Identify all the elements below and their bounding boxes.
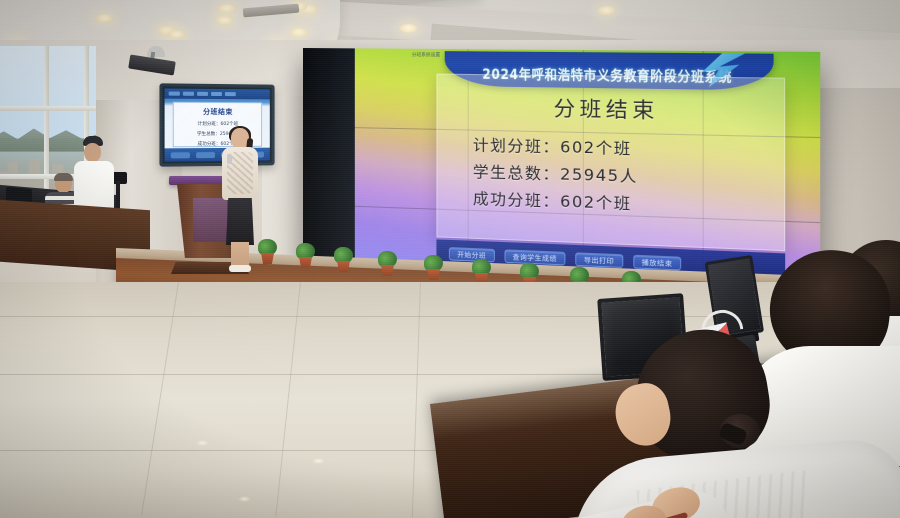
presenter bbox=[218, 128, 262, 272]
potted-plant bbox=[334, 246, 353, 272]
floor-light-reflection bbox=[196, 440, 209, 446]
wall-display-stat: 计划分班：602个班 bbox=[177, 120, 257, 127]
toolbar-item[interactable]: 分班系统设置 bbox=[412, 52, 440, 58]
plant-pot bbox=[261, 253, 274, 264]
menu-chip-icon bbox=[211, 92, 222, 96]
handheld-mic-icon bbox=[227, 154, 232, 164]
presenter-legs bbox=[231, 242, 249, 266]
downlight bbox=[598, 6, 615, 15]
result-stat-value: 25945人 bbox=[560, 165, 638, 186]
conference-room-photo: 分班结束 计划分班：602个班 学生总数：25945人 成功分班：602个班 bbox=[0, 0, 900, 518]
menu-chip-icon bbox=[197, 92, 208, 96]
result-stat-label: 成功分班： bbox=[473, 189, 560, 211]
downlight bbox=[96, 14, 113, 23]
floor-tile-line bbox=[412, 282, 421, 518]
wall-display-menubar bbox=[165, 88, 270, 99]
result-stat-row: 成功分班：602个班 bbox=[473, 187, 784, 219]
plant-pot bbox=[299, 257, 312, 268]
downlight bbox=[218, 4, 235, 13]
downlight bbox=[400, 24, 417, 33]
floor-light-reflection bbox=[312, 458, 325, 464]
floor-light-reflection bbox=[238, 496, 251, 502]
result-dialog: 分班结束 计划分班：602个班 学生总数：25945人 成功分班：602个班 bbox=[436, 74, 785, 252]
plant-pot bbox=[381, 265, 394, 276]
wall-display-button[interactable] bbox=[196, 152, 215, 158]
potted-plant bbox=[424, 254, 443, 280]
downlight bbox=[168, 30, 185, 39]
result-heading: 分班结束 bbox=[437, 90, 784, 126]
result-stat-value: 602个班 bbox=[560, 192, 632, 213]
presenter-shoes bbox=[229, 265, 251, 272]
wall-display-heading: 分班结束 bbox=[174, 107, 261, 117]
floor-tile-line bbox=[275, 282, 301, 517]
result-stat-label: 学生总数： bbox=[473, 163, 560, 184]
potted-plant bbox=[472, 258, 491, 284]
result-stat-row: 学生总数：25945人 bbox=[473, 161, 784, 192]
attendee-hair bbox=[54, 173, 73, 181]
plant-pot bbox=[337, 261, 350, 272]
result-stat-row: 计划分班：602个班 bbox=[473, 134, 784, 164]
audience-front bbox=[600, 330, 900, 518]
result-stat-value: 602个班 bbox=[560, 138, 632, 159]
result-stats: 计划分班：602个班 学生总数：25945人 成功分班：602个班 bbox=[437, 133, 784, 220]
menu-chip-icon bbox=[183, 92, 194, 96]
potted-plant bbox=[296, 242, 315, 268]
menu-chip-icon bbox=[169, 92, 180, 96]
downlight bbox=[290, 28, 307, 37]
cameraman-head bbox=[84, 143, 101, 162]
potted-plant bbox=[378, 250, 397, 276]
plant-pot bbox=[427, 269, 440, 280]
result-stat-label: 计划分班： bbox=[473, 136, 560, 157]
potted-plant bbox=[258, 238, 277, 264]
downlight bbox=[216, 16, 233, 25]
wall-display-button[interactable] bbox=[171, 152, 190, 158]
playback-end-button[interactable]: 播放结束 bbox=[633, 254, 682, 270]
presenter-skirt bbox=[226, 198, 254, 245]
window-mullion bbox=[0, 106, 96, 111]
menu-chip-icon bbox=[225, 92, 236, 96]
